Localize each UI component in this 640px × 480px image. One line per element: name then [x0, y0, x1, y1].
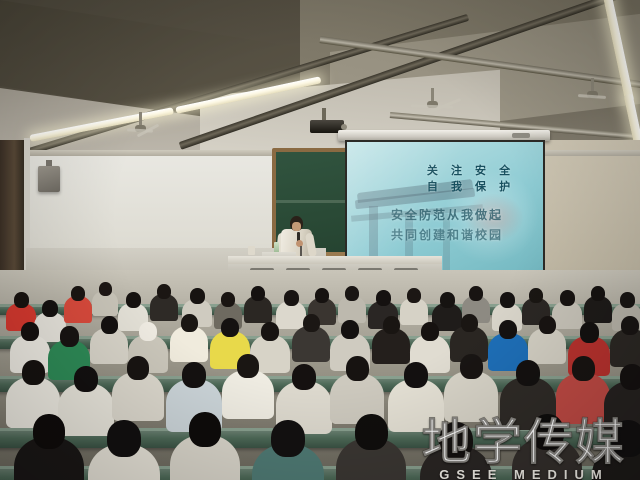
audience-member [170, 412, 240, 480]
paper-cup [248, 246, 255, 255]
audience-member-head [251, 286, 265, 301]
audience-member-head [182, 362, 206, 388]
presenter-face [292, 222, 301, 231]
audience-member [64, 286, 92, 328]
wall-speaker-icon [38, 166, 60, 192]
audience-member-head [341, 320, 359, 339]
audience-member-head [221, 318, 239, 337]
audience-member [88, 420, 160, 480]
audience-member-head [404, 362, 428, 388]
audience-member-head [99, 282, 112, 296]
audience-member-head [14, 292, 29, 308]
audience-member-head [261, 322, 279, 341]
audience-member-head [539, 316, 556, 334]
audience-member-torso [610, 329, 640, 367]
audience-member-head [591, 286, 605, 301]
audience-member-head [221, 292, 235, 307]
audience-member-head [107, 420, 141, 457]
audience-member-head [33, 414, 65, 449]
audience-member-head [407, 288, 421, 303]
audience-member-head [271, 420, 305, 457]
audience-member-head [620, 292, 635, 308]
audience-member-head [190, 288, 205, 304]
audience-member-head [292, 364, 316, 390]
fan-rod [431, 88, 434, 102]
watermark-english: GSEE MEDIUM [410, 468, 638, 480]
audience-member-head [516, 360, 540, 386]
audience-member-head [71, 286, 85, 301]
audience-member-head [560, 290, 575, 306]
audience-member [252, 420, 324, 480]
audience-member-head [621, 316, 639, 335]
audience-member-head [21, 322, 39, 341]
audience-member-head [60, 326, 79, 347]
audience-member-head [315, 288, 329, 303]
audience-member-head [572, 356, 595, 381]
audience-member-head [22, 360, 45, 385]
fan-rod [591, 78, 594, 92]
audience-member-head [461, 314, 478, 332]
audience-member-head [529, 288, 543, 303]
audience-member [14, 414, 84, 480]
audience-member-head [469, 286, 483, 301]
podium-microphone [300, 246, 302, 256]
audience-member-head [101, 316, 118, 334]
audience-member-head [284, 290, 299, 306]
audience-member-head [181, 314, 198, 332]
audience-member-head [126, 292, 141, 308]
audience-member-head [189, 412, 221, 447]
audience-member-head [499, 320, 517, 339]
audience-member-head [345, 286, 359, 301]
audience-member-head [620, 364, 640, 390]
audience-member-head [376, 290, 391, 306]
screen-roller-knob[interactable] [512, 133, 530, 138]
audience-member-head [303, 314, 320, 332]
audience-member-head [74, 366, 98, 392]
audience-member-head [580, 322, 599, 343]
audience-member [112, 356, 164, 430]
audience-member-head [127, 356, 149, 380]
audience-member-head [237, 354, 259, 378]
audience-member-head [355, 414, 388, 450]
fan-rod [139, 112, 142, 126]
audience-member [292, 314, 330, 369]
audience-member-head [421, 322, 439, 341]
audience-member-head [460, 354, 483, 379]
audience-member [170, 314, 208, 369]
audience-member-head [383, 316, 400, 334]
audience-member-head [42, 300, 58, 317]
audience-member [336, 414, 406, 480]
audience-member-head [500, 292, 515, 308]
watermark-chinese: 地学传媒 [410, 418, 638, 468]
audience-member-head [440, 292, 455, 308]
audience-member-head [346, 356, 369, 381]
lecture-hall-photo: 关 注 安 全 自 我 保 护 安全防范从我做起 共同创建和谐校园 地学传媒 G… [0, 0, 640, 480]
audience-member-head [157, 284, 171, 299]
audience-member-head [139, 322, 157, 341]
watermark: 地学传媒 GSEE MEDIUM [410, 418, 638, 480]
